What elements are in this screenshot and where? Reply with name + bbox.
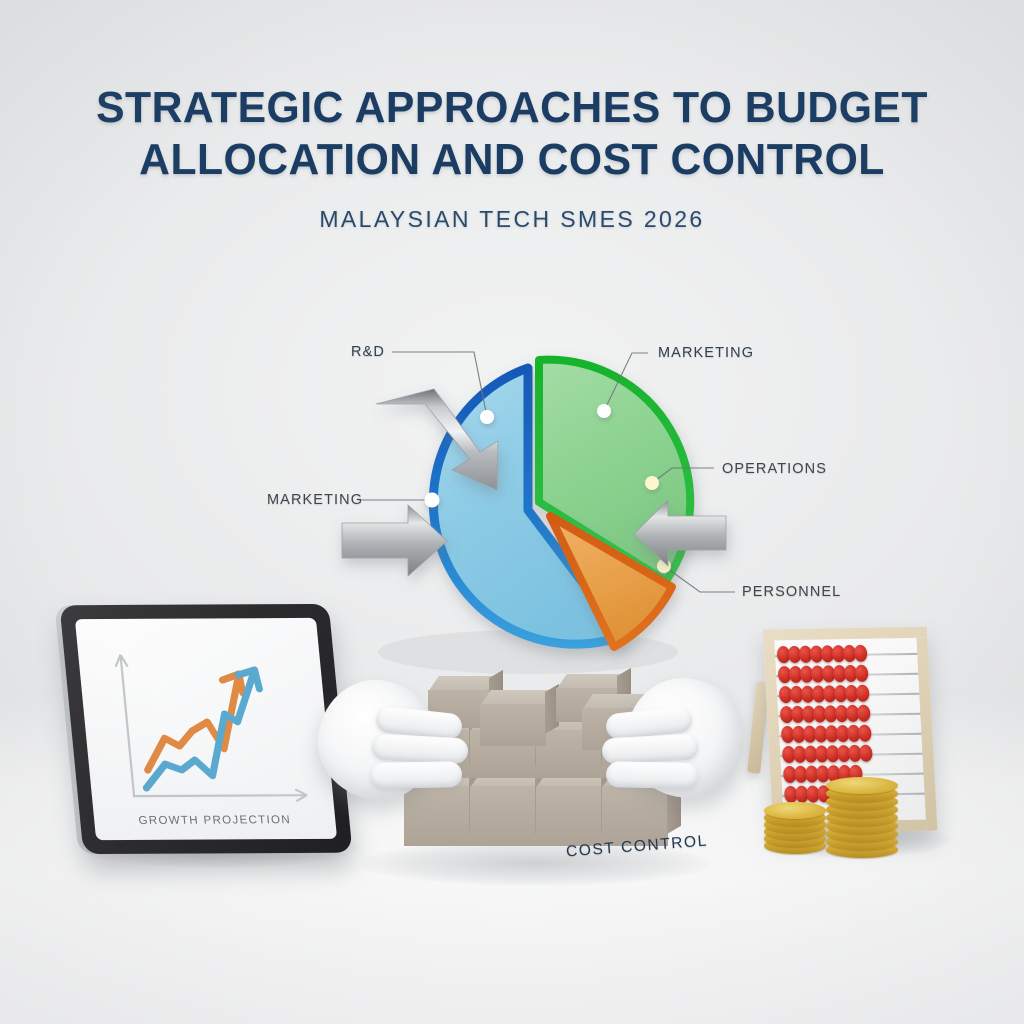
abacus-bead[interactable] <box>856 685 870 702</box>
callout-label-personnel[interactable]: PERSONNEL <box>742 584 841 600</box>
callout-label-marketing-top[interactable]: MARKETING <box>658 345 754 361</box>
callout-label-marketing-left[interactable]: MARKETING <box>267 492 363 508</box>
coin-stack-left <box>764 792 826 854</box>
callout-label-operations[interactable]: OPERATIONS <box>722 461 827 477</box>
abacus-bead[interactable] <box>859 745 873 762</box>
tablet-device[interactable]: GROWTH PROJECTION <box>59 604 352 854</box>
abacus-bead[interactable] <box>855 665 869 682</box>
right-hand-finger <box>601 734 698 765</box>
right-hand-finger <box>606 761 698 789</box>
callout-label-rd[interactable]: R&D <box>351 344 385 360</box>
block-cube-top <box>480 690 546 746</box>
growth-projection-chart <box>75 618 337 840</box>
poster-canvas: STRATEGIC APPROACHES TO BUDGET ALLOCATIO… <box>0 0 1024 1024</box>
left-hand-finger <box>371 734 468 765</box>
block-cube <box>536 772 602 846</box>
abacus-bead[interactable] <box>857 705 871 722</box>
coin-stack-right <box>826 762 898 858</box>
abacus-bead[interactable] <box>854 645 868 662</box>
tablet-screen[interactable]: GROWTH PROJECTION <box>75 618 337 840</box>
left-hand-finger <box>370 761 462 789</box>
growth-projection-label: GROWTH PROJECTION <box>94 814 336 827</box>
block-cube <box>470 772 536 846</box>
abacus-bead[interactable] <box>858 725 872 742</box>
